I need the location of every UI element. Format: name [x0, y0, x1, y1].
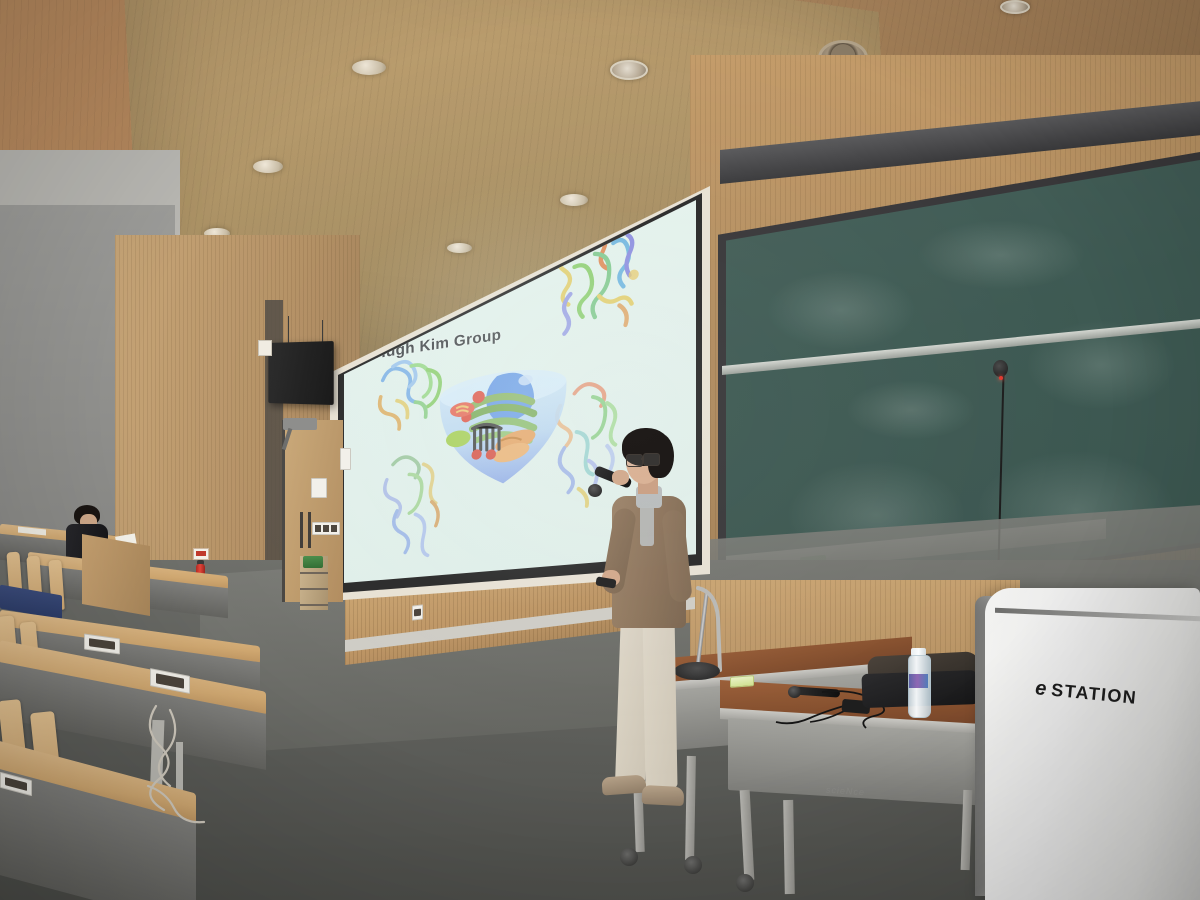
downlight-icon: [560, 194, 588, 206]
stage-desk-leg: [783, 800, 795, 894]
handheld-microphone-head: [588, 484, 602, 497]
downlight-icon: [253, 160, 283, 173]
wall-sign: [340, 448, 351, 470]
presenter-shirt-placket: [640, 502, 654, 546]
presenter-hand: [612, 470, 629, 485]
eyeglasses-icon: [626, 454, 643, 467]
presenter-shoe: [601, 774, 646, 795]
water-bottle-label: [909, 674, 928, 688]
handheld-microphone-head: [788, 686, 801, 698]
desk-caster-wheel: [620, 848, 638, 866]
wall-sign: [311, 478, 327, 498]
presenter-shoe: [642, 785, 685, 806]
wall-outlet-icon[interactable]: [412, 604, 423, 620]
small-green-box: [730, 675, 754, 688]
ceiling-speaker-icon: [1000, 0, 1030, 14]
downlight-icon: [352, 60, 386, 75]
eyeglasses-icon: [643, 453, 660, 466]
floor-cables: [110, 700, 270, 840]
fire-extinguisher-sign: [193, 548, 209, 560]
shelf-item: [303, 556, 323, 568]
lecture-hall-photo: Hugh Kim Group: [0, 0, 1200, 900]
desk-caster-wheel: [736, 874, 754, 892]
podium[interactable]: [985, 588, 1200, 900]
wall-speaker-icon: [268, 341, 333, 405]
ceiling-speaker-icon: [610, 60, 648, 80]
speaker-hanging-wire: [288, 316, 289, 344]
wall-control-panel[interactable]: [258, 340, 272, 356]
wall-outlet-icon[interactable]: [312, 522, 340, 535]
eukaryotic-cell-diagram: [432, 338, 575, 496]
desk-side-panel: [82, 534, 150, 616]
eyeglasses-bridge: [641, 458, 644, 460]
downlight-icon: [447, 243, 472, 253]
desk-caster-wheel: [684, 856, 702, 874]
door-handle-icon[interactable]: [308, 512, 311, 548]
hanging-microphone-icon: [993, 360, 1008, 377]
mic-led-indicator: [999, 376, 1003, 380]
door-handle-icon[interactable]: [300, 512, 303, 548]
e-logo-icon: e: [1034, 677, 1047, 701]
presenter-trousers: [642, 614, 677, 789]
presenter: [596, 424, 716, 814]
